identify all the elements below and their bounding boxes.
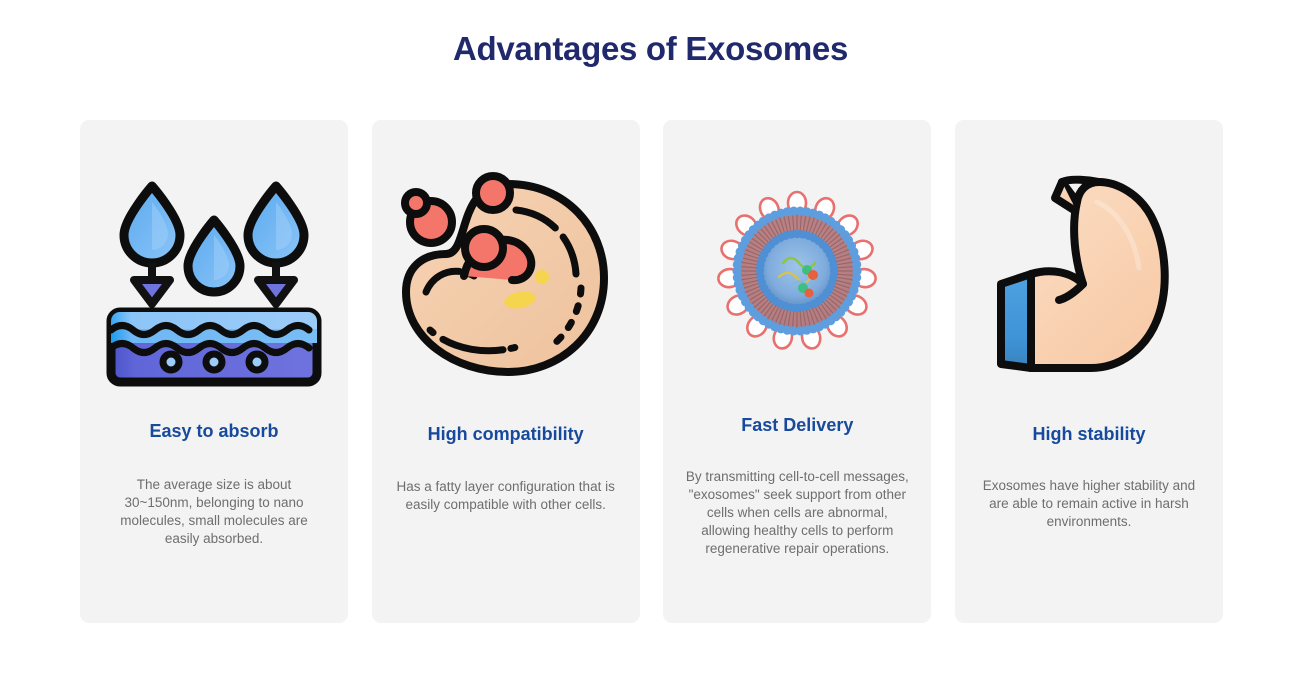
flexed-bicep-icon: [979, 168, 1199, 383]
advantage-card-list: Easy to absorb The average size is about…: [80, 120, 1223, 623]
card-description: Exosomes have higher stability and are a…: [955, 477, 1223, 531]
cell-membrane-icon: [396, 170, 616, 385]
advantages-section: Advantages of Exosomes: [0, 0, 1301, 691]
card-description: By transmitting cell-to-cell messages, "…: [663, 468, 931, 558]
advantage-card[interactable]: (function(){ var svg = document.currentS…: [663, 120, 931, 623]
advantage-card[interactable]: High compatibility Has a fatty layer con…: [372, 120, 640, 623]
advantage-card[interactable]: High stability Exosomes have higher stab…: [955, 120, 1223, 623]
card-title: High compatibility: [416, 422, 596, 446]
card-title: Fast Delivery: [729, 413, 865, 437]
card-title: Easy to absorb: [137, 419, 290, 443]
water-absorption-icon: [104, 172, 324, 387]
exosome-vesicle-icon: (function(){ var svg = document.currentS…: [687, 165, 907, 380]
card-title: High stability: [1020, 422, 1157, 446]
card-description: The average size is about 30~150nm, belo…: [80, 476, 348, 548]
page-title: Advantages of Exosomes: [0, 26, 1301, 72]
card-description: Has a fatty layer configuration that is …: [372, 478, 640, 514]
advantage-card[interactable]: Easy to absorb The average size is about…: [80, 120, 348, 623]
